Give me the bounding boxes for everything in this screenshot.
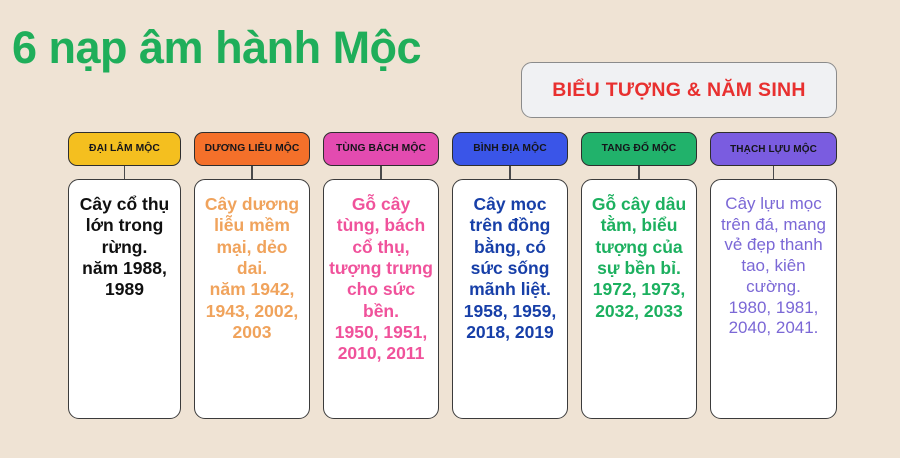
badge-label: BÌNH ĐỊA MỘC [473,143,546,154]
badge-tung-bach-moc[interactable]: TÙNG BÁCH MỘC [323,132,439,166]
connector-line [509,166,511,179]
column-dai-lam-moc: ĐẠI LÂM MỘC Cây cổ thụ lớn trong rừng. n… [68,132,181,432]
column-duong-lieu-moc: DƯƠNG LIỄU MỘC Cây dương liễu mềm mại, d… [194,132,310,432]
column-thach-luu-moc: THẠCH LỰU MỘC Cây lựu mọc trên đá, mang … [710,132,837,432]
card-body-text: Cây dương liễu mềm mại, dẻo dai. năm 194… [200,194,304,343]
columns-container: ĐẠI LÂM MỘC Cây cổ thụ lớn trong rừng. n… [0,132,900,432]
connector-line [251,166,253,179]
connector-line [773,166,775,179]
badge-label: TANG ĐỐ MỘC [602,143,677,154]
card-tang-do-moc: Gỗ cây dâu tằm, biểu tượng của sự bền bỉ… [581,179,697,419]
card-body-text: Cây lựu mọc trên đá, mang vẻ đẹp thanh t… [716,194,831,339]
header-row: 6 nạp âm hành Mộc BIỂU TƯỢNG & NĂM SINH [0,24,900,110]
card-dai-lam-moc: Cây cổ thụ lớn trong rừng. năm 1988, 198… [68,179,181,419]
column-tung-bach-moc: TÙNG BÁCH MỘC Gỗ cây tùng, bách cổ thụ, … [323,132,439,432]
badge-thach-luu-moc[interactable]: THẠCH LỰU MỘC [710,132,837,166]
card-duong-lieu-moc: Cây dương liễu mềm mại, dẻo dai. năm 194… [194,179,310,419]
card-body-text: Cây mọc trên đồng bằng, có sức sống mãnh… [458,194,562,343]
badge-tang-do-moc[interactable]: TANG ĐỐ MỘC [581,132,697,166]
card-binh-dia-moc: Cây mọc trên đồng bằng, có sức sống mãnh… [452,179,568,419]
card-body-text: Cây cổ thụ lớn trong rừng. năm 1988, 198… [74,194,175,301]
connector-line [124,166,126,179]
column-tang-do-moc: TANG ĐỐ MỘC Gỗ cây dâu tằm, biểu tượng c… [581,132,697,432]
badge-binh-dia-moc[interactable]: BÌNH ĐỊA MỘC [452,132,568,166]
card-body-text: Gỗ cây dâu tằm, biểu tượng của sự bền bỉ… [587,194,691,322]
connector-line [380,166,382,179]
page-title: 6 nạp âm hành Mộc [12,24,421,71]
card-body-text: Gỗ cây tùng, bách cổ thụ, tượng trưng ch… [329,194,433,365]
card-tung-bach-moc: Gỗ cây tùng, bách cổ thụ, tượng trưng ch… [323,179,439,419]
legend-box: BIỂU TƯỢNG & NĂM SINH [521,62,837,118]
card-thach-luu-moc: Cây lựu mọc trên đá, mang vẻ đẹp thanh t… [710,179,837,419]
connector-line [638,166,640,179]
legend-label: BIỂU TƯỢNG & NĂM SINH [552,79,806,102]
column-binh-dia-moc: BÌNH ĐỊA MỘC Cây mọc trên đồng bằng, có … [452,132,568,432]
badge-label: THẠCH LỰU MỘC [730,144,817,155]
badge-dai-lam-moc[interactable]: ĐẠI LÂM MỘC [68,132,181,166]
badge-label: DƯƠNG LIỄU MỘC [205,143,300,154]
badge-label: ĐẠI LÂM MỘC [89,143,160,154]
badge-label: TÙNG BÁCH MỘC [336,143,426,154]
badge-duong-lieu-moc[interactable]: DƯƠNG LIỄU MỘC [194,132,310,166]
